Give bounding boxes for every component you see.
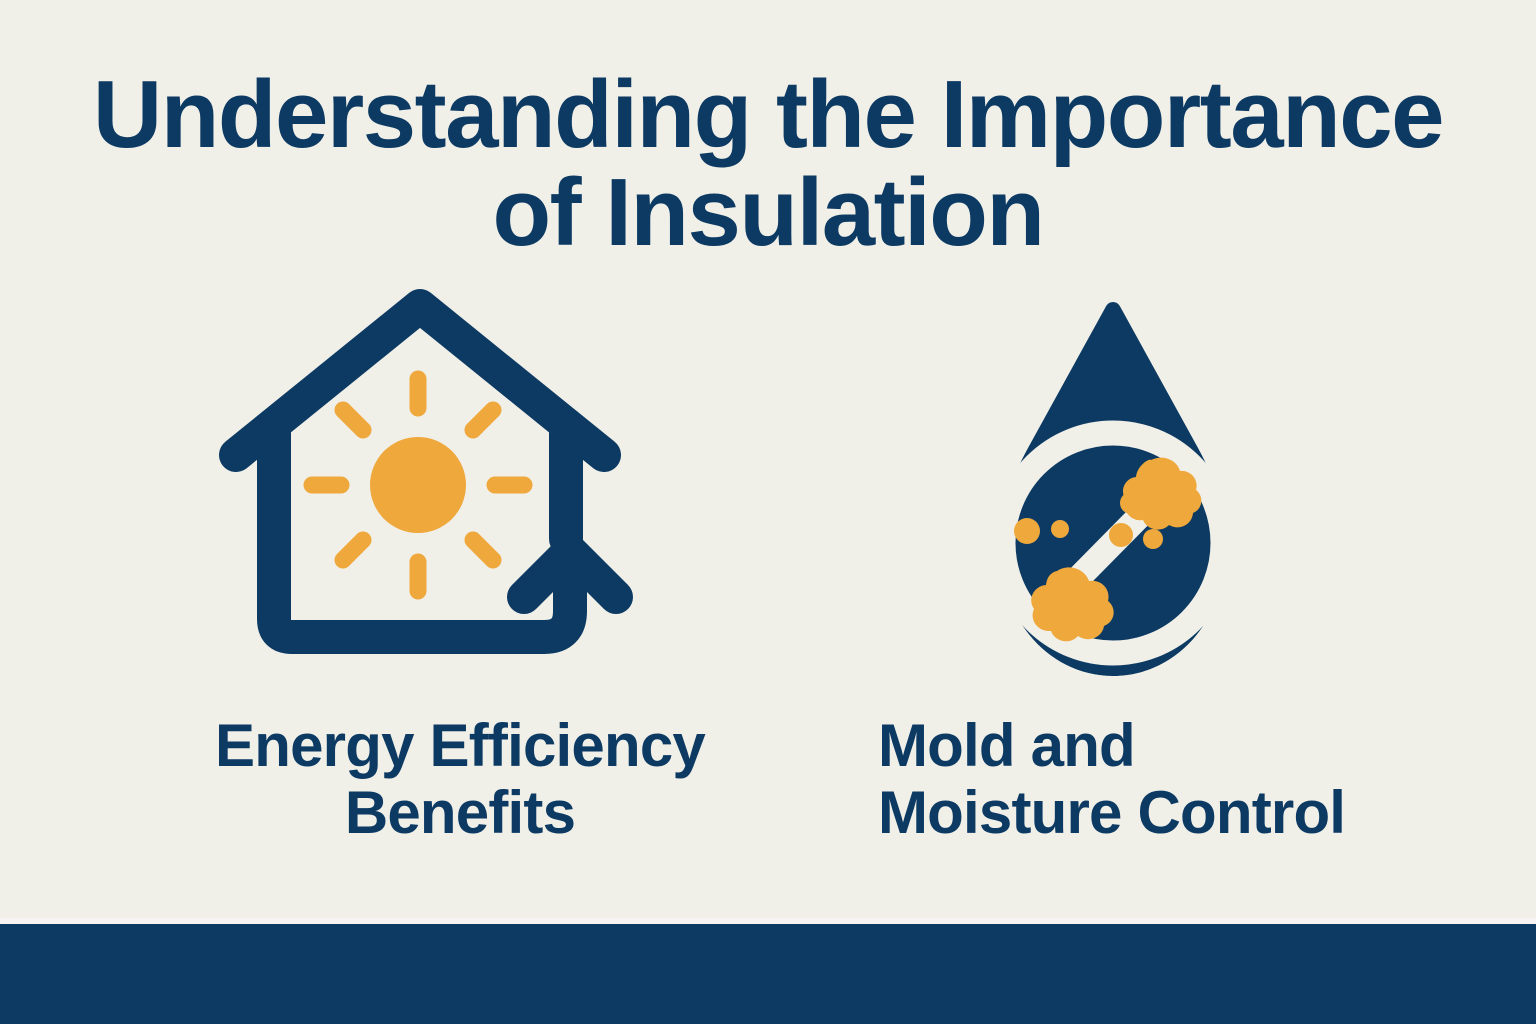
footer-bar xyxy=(0,924,1536,1024)
page-title: Understanding the Importance of Insulati… xyxy=(0,66,1536,262)
card-caption-energy-efficiency: Energy Efficiency Benefits xyxy=(190,712,730,846)
card-caption-mold-moisture: Mold and Moisture Control xyxy=(878,712,1498,846)
infographic-canvas: Understanding the Importance of Insulati… xyxy=(0,0,1536,1024)
house-with-sun-and-up-arrow-icon xyxy=(218,292,648,667)
water-droplet-no-mold-icon xyxy=(965,296,1265,688)
sun-core-circle xyxy=(370,437,466,533)
